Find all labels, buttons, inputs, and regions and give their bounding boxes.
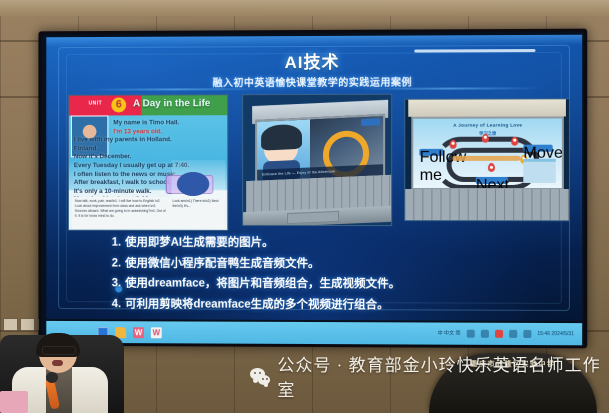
chevron-up-icon[interactable] bbox=[467, 330, 475, 338]
roadmap-label: Follow me bbox=[420, 149, 444, 156]
map-pin-icon bbox=[511, 137, 518, 146]
pink-nameplate bbox=[0, 391, 28, 413]
watermark-text: 公众号 · 教育部金小玲快乐英语名师工作室 bbox=[277, 351, 609, 401]
slide-canvas: AI技术 融入初中英语愉快课堂教学的实践运用案例 UNIT 6 A Day in… bbox=[46, 35, 582, 321]
textbook-scan: UNIT 6 A Day in the Life My name is Timo… bbox=[69, 95, 227, 230]
laptop-screen: A Journey of Learning Love 学习之旅 Follow m… bbox=[412, 116, 564, 190]
laptop-photo: Embrace the Life — Enjoy of the Adventur… bbox=[243, 95, 391, 225]
microphone-head bbox=[46, 372, 58, 383]
list-item-text: 使用dreamface，将图片和音频组合，生成视频文件。 bbox=[125, 276, 400, 292]
media-textbook-page: UNIT 6 A Day in the Life My name is Timo… bbox=[68, 94, 228, 231]
cloud-icon[interactable] bbox=[481, 330, 489, 338]
slide-subtitle: 融入初中英语愉快课堂教学的实践运用案例 bbox=[46, 73, 582, 90]
list-item-text: 使用微信小程序配音鸭生成音频文件。 bbox=[125, 256, 319, 271]
volume-icon[interactable] bbox=[523, 330, 531, 338]
list-item: 4. 可利用剪映将dreamface生成的多个视频进行组合。 bbox=[105, 297, 551, 314]
windows-taskbar[interactable]: W W 中 中文 简 15:46 2024/5/31 bbox=[46, 321, 582, 345]
slide-title: AI技术 bbox=[46, 47, 582, 74]
glasses-icon bbox=[42, 346, 76, 355]
roadmap-label: Next here bbox=[476, 177, 509, 184]
wps-writer-icon[interactable]: W bbox=[133, 327, 144, 338]
roadmap-progress-bar bbox=[452, 156, 520, 161]
list-item-number: 3. bbox=[105, 276, 121, 291]
network-icon[interactable] bbox=[509, 330, 517, 338]
roadmap-label: Move here bbox=[523, 145, 553, 152]
roadmap-title: A Journey of Learning Love bbox=[414, 122, 562, 127]
laptop-keyboard bbox=[405, 189, 569, 220]
list-item-number: 2. bbox=[105, 256, 121, 271]
building-illustration bbox=[523, 159, 556, 183]
list-item-text: 使用即梦AI生成需要的图片。 bbox=[125, 236, 273, 251]
clock[interactable]: 15:46 2024/5/31 bbox=[537, 331, 574, 337]
watermark: 公众号 · 教育部金小玲快乐英语名师工作室 bbox=[250, 351, 609, 401]
presenter-mouth bbox=[52, 360, 63, 366]
textbook-exercise-area: Now talk, work, pair, read\n1. I will li… bbox=[72, 197, 224, 229]
wall-outlet bbox=[20, 318, 35, 331]
wps-presentation-icon[interactable]: W bbox=[151, 327, 162, 338]
list-item: 1. 使用即梦AI生成需要的图片。 bbox=[105, 236, 551, 252]
textbook-heading: A Day in the Life bbox=[133, 98, 210, 109]
wechat-icon bbox=[250, 368, 270, 385]
classroom-photo: AI技术 融入初中英语愉快课堂教学的实践运用案例 UNIT 6 A Day in… bbox=[0, 0, 609, 413]
laptop-screen: Embrace the Life — Enjoy of the Adventur… bbox=[255, 114, 385, 185]
hockey-player-illustration bbox=[172, 160, 226, 200]
textbook-line: My name is Timo Hall. bbox=[74, 119, 223, 128]
laptop-lid bbox=[408, 99, 565, 116]
map-pin-icon bbox=[449, 139, 456, 148]
media-laptop-roadmap: A Journey of Learning Love 学习之旅 Follow m… bbox=[404, 98, 570, 221]
textbook-line: I live with my parents in Holland. bbox=[74, 136, 223, 145]
list-item-text: 可利用剪映将dreamface生成的多个视频进行组合。 bbox=[125, 297, 389, 313]
list-item-number: 1. bbox=[105, 236, 121, 251]
taskbar-tray: 中 中文 简 15:46 2024/5/31 bbox=[438, 330, 583, 339]
list-item: 3. 使用dreamface，将图片和音频组合，生成视频文件。 bbox=[105, 276, 551, 292]
textbook-unit-number: 6 bbox=[111, 98, 126, 113]
textbook-exercise-left: Now talk, work, pair, read\n1. I will li… bbox=[75, 199, 166, 219]
ime-indicator[interactable]: 中 中文 简 bbox=[438, 331, 461, 337]
textbook-exercise-right: Look ans\n1) There is\n2) Next the\n3) I… bbox=[172, 199, 221, 209]
media-row: UNIT 6 A Day in the Life My name is Timo… bbox=[68, 93, 560, 229]
media-laptop-ai-character: Embrace the Life — Enjoy of the Adventur… bbox=[242, 94, 392, 226]
laptop-trackpad bbox=[287, 211, 339, 224]
list-item-number: 4. bbox=[105, 297, 121, 312]
map-pin-icon bbox=[482, 134, 489, 143]
steps-list: 1. 使用即梦AI生成需要的图片。 2. 使用微信小程序配音鸭生成音频文件。 3… bbox=[105, 236, 551, 319]
presentation-display: AI技术 融入初中英语愉快课堂教学的实践运用案例 UNIT 6 A Day in… bbox=[38, 29, 587, 349]
map-pin-icon bbox=[488, 163, 495, 172]
screen-caption-text: Embrace the Life — Enjoy of the Adventur… bbox=[262, 169, 335, 176]
list-item: 2. 使用微信小程序配音鸭生成音频文件。 bbox=[105, 256, 551, 272]
notification-icon[interactable] bbox=[495, 330, 503, 338]
textbook-line-highlight: I'm 13 years old. bbox=[74, 128, 223, 137]
character-hair bbox=[261, 124, 301, 151]
ceiling-strip bbox=[0, 0, 609, 16]
screen-badge bbox=[361, 119, 380, 127]
wall-outlet bbox=[3, 318, 18, 331]
textbook-unit-label: UNIT bbox=[89, 101, 102, 107]
